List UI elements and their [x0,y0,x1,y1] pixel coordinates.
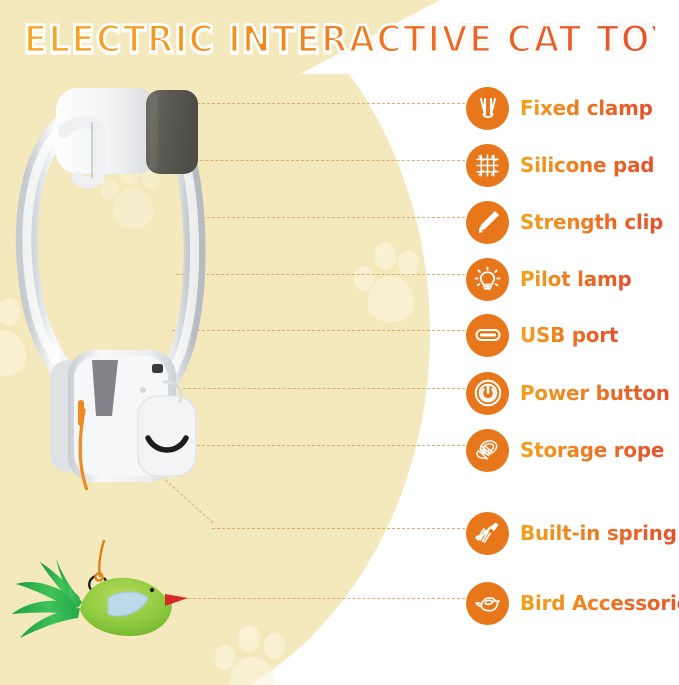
feature-row-usb-port[interactable]: USB port [466,312,621,358]
product-illustration [0,60,250,490]
bird-icon [466,582,509,625]
feature-row-bird-accessories[interactable]: Bird Accessories [466,580,679,626]
infographic-canvas: ELECTRIC INTERACTIVE CAT TOY [0,0,679,685]
bird-accessory-illustration [0,540,210,660]
feature-label: Bird Accessories [520,591,679,615]
feature-label: Storage rope [520,438,664,462]
page-title: ELECTRIC INTERACTIVE CAT TOY [24,18,655,62]
feature-label: USB port [520,323,618,347]
leader-line-built-in-spring-h [212,528,465,529]
feature-label: Built-in spring [520,521,677,545]
feature-row-built-in-spring[interactable]: Built-in spring [466,510,679,556]
feature-row-strength-clip[interactable]: Strength clip [466,199,668,245]
feature-row-fixed-clamp[interactable]: Fixed clamp [466,85,657,131]
feature-label: Strength clip [520,210,663,234]
silicone-pad-icon [466,144,509,187]
power-button-icon [466,372,509,415]
rope-coil-icon [466,429,509,472]
lightbulb-icon [466,258,509,301]
usb-port-icon [466,314,509,357]
feature-row-storage-rope[interactable]: Storage rope [466,427,669,473]
feature-label: Pilot lamp [520,267,632,291]
spring-icon [466,512,509,555]
feature-label: Fixed clamp [520,96,653,120]
feature-row-pilot-lamp[interactable]: Pilot lamp [466,256,635,302]
feature-label: Silicone pad [520,153,654,177]
feature-label: Power button [520,381,670,405]
clamp-icon [466,87,509,130]
strength-clip-icon [466,201,509,244]
paw-print-decoration [215,625,295,685]
feature-row-power-button[interactable]: Power button [466,370,674,416]
paw-print-decoration [352,240,430,324]
feature-row-silicone-pad[interactable]: Silicone pad [466,142,659,188]
